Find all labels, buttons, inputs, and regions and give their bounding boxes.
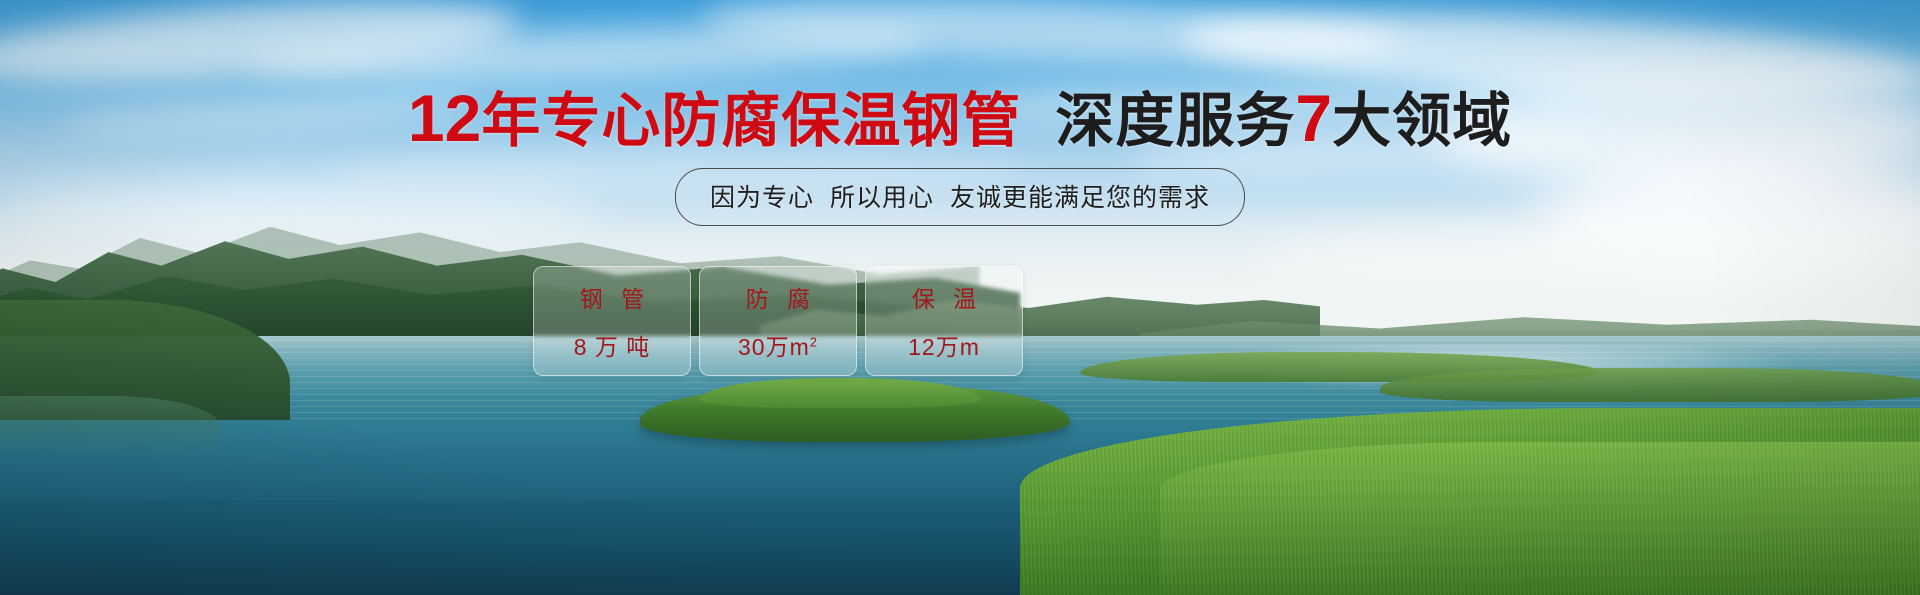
banner-content: 12年专心防腐保温钢管深度服务7大领域 因为专心所以用心友诚更能满足您的需求 钢… bbox=[0, 0, 1920, 595]
stat-card-anticorrosion: 防 腐 30万m2 bbox=[699, 266, 857, 376]
hero-banner: 12年专心防腐保温钢管深度服务7大领域 因为专心所以用心友诚更能满足您的需求 钢… bbox=[0, 0, 1920, 595]
stat-card-value-text: 30万m bbox=[738, 334, 810, 360]
subtitle-pill: 因为专心所以用心友诚更能满足您的需求 bbox=[675, 168, 1245, 226]
stat-cards: 钢 管 8 万 吨 防 腐 30万m2 保 温 12万m bbox=[533, 266, 1023, 376]
stat-card-value-text: 12万m bbox=[908, 334, 980, 360]
headline-part-one: 年专心防腐保温钢管 bbox=[481, 88, 1021, 154]
subtitle-segment-1: 因为专心 bbox=[710, 184, 814, 212]
stat-card-steel-pipe: 钢 管 8 万 吨 bbox=[533, 266, 691, 376]
stat-card-label: 保 温 bbox=[906, 280, 982, 314]
headline: 12年专心防腐保温钢管深度服务7大领域 bbox=[0, 84, 1920, 153]
stat-card-value: 8 万 吨 bbox=[574, 328, 651, 362]
headline-part-three: 大领域 bbox=[1332, 88, 1512, 154]
stat-card-label: 钢 管 bbox=[574, 280, 650, 314]
stat-card-value-text: 8 万 吨 bbox=[574, 334, 651, 360]
subtitle-segment-2: 所以用心 bbox=[830, 184, 934, 212]
headline-part-two: 深度服务 bbox=[1055, 88, 1295, 154]
subtitle-segment-3: 友诚更能满足您的需求 bbox=[950, 184, 1210, 212]
stat-card-value-superscript: 2 bbox=[810, 334, 818, 349]
stat-card-value: 30万m2 bbox=[738, 328, 818, 362]
headline-fields-number: 7 bbox=[1295, 81, 1332, 155]
headline-years-number: 12 bbox=[408, 81, 481, 155]
stat-card-insulation: 保 温 12万m bbox=[865, 266, 1023, 376]
stat-card-label: 防 腐 bbox=[740, 280, 816, 314]
stat-card-value: 12万m bbox=[908, 328, 980, 362]
